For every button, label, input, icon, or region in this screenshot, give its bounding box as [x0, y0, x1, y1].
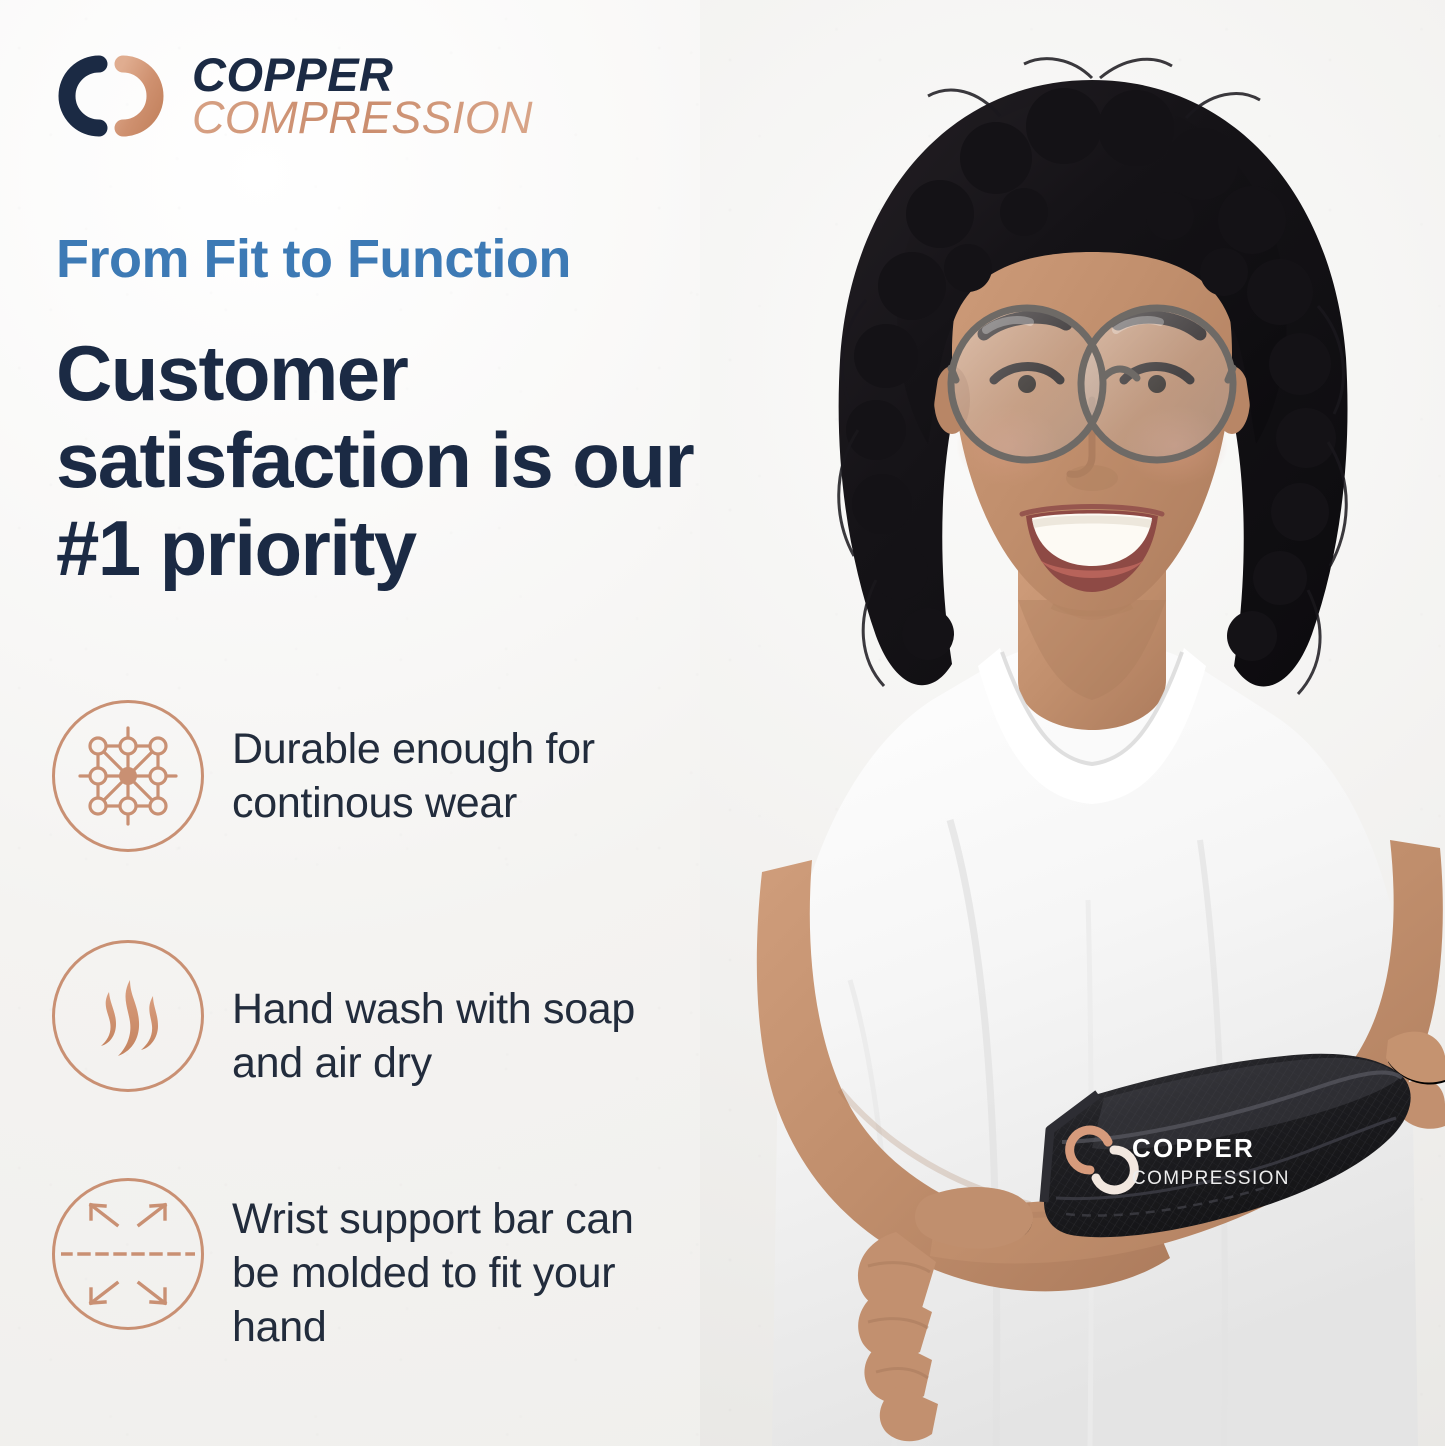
feature-row-washing: Hand wash with soap and air dry — [52, 940, 712, 1092]
expand-arrows-icon — [52, 1178, 204, 1330]
model-illustration: COPPER COMPRESSION — [700, 0, 1445, 1446]
feature-text: Durable enough for continous wear — [232, 700, 652, 830]
interlocking-rings-logo-icon — [52, 46, 170, 146]
page-title: Customer satisfaction is our #1 priority — [56, 330, 716, 592]
network-nodes-icon — [52, 700, 204, 852]
steam-waves-icon — [52, 940, 204, 1092]
brand-wordmark: COPPER COMPRESSION — [192, 53, 533, 139]
feature-row-moldable: Wrist support bar can be molded to fit y… — [52, 1178, 712, 1355]
eyebrow-heading: From Fit to Function — [56, 232, 716, 286]
left-content-column: COPPER COMPRESSION From Fit to Function … — [0, 0, 730, 1446]
feature-row-durability: Durable enough for continous wear — [52, 700, 712, 852]
brace-label-line2: COMPRESSION — [1132, 1168, 1290, 1189]
brand-logo: COPPER COMPRESSION — [52, 46, 533, 146]
model-photo: COPPER COMPRESSION — [700, 0, 1445, 1446]
product-marketing-image: COPPER COMPRESSION — [0, 0, 1445, 1446]
brand-name-line2: COMPRESSION — [192, 97, 533, 139]
brace-label-line1: COPPER — [1132, 1133, 1255, 1163]
feature-list: Durable enough for continous wear — [52, 700, 712, 1355]
brand-name-line1: COPPER — [192, 53, 533, 97]
feature-text: Wrist support bar can be molded to fit y… — [232, 1178, 652, 1355]
feature-text: Hand wash with soap and air dry — [232, 940, 652, 1090]
